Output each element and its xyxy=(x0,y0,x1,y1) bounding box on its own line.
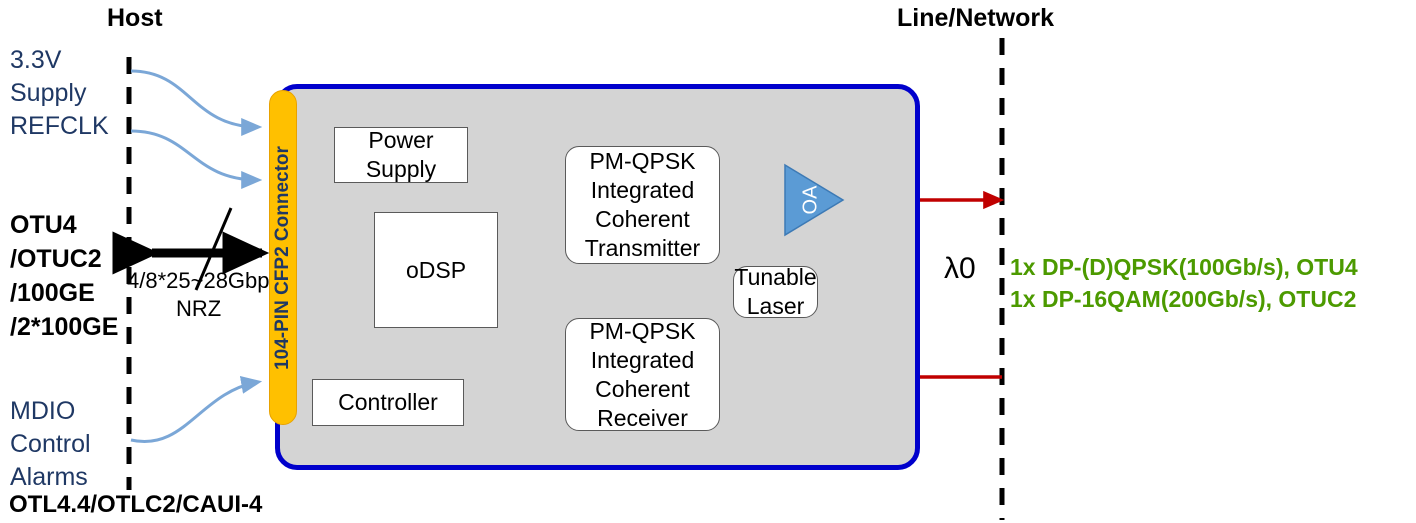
mdio-label-line1: MDIO xyxy=(10,395,91,428)
oa-label: OA xyxy=(800,186,823,215)
supply-label-group: 3.3V Supply xyxy=(10,44,86,110)
connector-label: 104-PIN CFP2 Connector xyxy=(272,146,294,370)
host-header: Host xyxy=(107,4,163,33)
standards-label: OTL4.4/OTLC2/CAUI-4 xyxy=(9,491,262,519)
coherent-transmitter-block: PM-QPSK Integrated Coherent Transmitter xyxy=(565,146,720,264)
client-rate-line1: OTU4 xyxy=(10,208,118,242)
odsp-block: oDSP xyxy=(374,212,498,328)
client-rate-line2: /OTUC2 xyxy=(10,242,118,276)
client-rate-line3: /100GE xyxy=(10,276,118,310)
tunable-laser-line2: Laser xyxy=(734,292,816,321)
mdio-label-line2: Control xyxy=(10,428,91,461)
wavelength-label: λ0 xyxy=(944,252,976,286)
controller-block: Controller xyxy=(312,379,464,426)
supply-label-line1: 3.3V xyxy=(10,44,86,77)
receiver-line3: Coherent xyxy=(589,375,695,404)
diagram-canvas: Host Line/Network 3.3V Supply REFCLK OTU… xyxy=(0,0,1416,523)
power-supply-block: Power Supply xyxy=(334,127,468,183)
modulation-line1: 1x DP-(D)QPSK(100Gb/s), OTU4 xyxy=(1010,251,1358,283)
coherent-receiver-block: PM-QPSK Integrated Coherent Receiver xyxy=(565,318,720,431)
transmitter-line4: Transmitter xyxy=(585,234,700,263)
power-supply-line2: Supply xyxy=(366,155,436,184)
receiver-line2: Integrated xyxy=(589,346,695,375)
mdio-label-line3: Alarms xyxy=(10,461,91,494)
mdio-curve-arrow xyxy=(131,382,258,442)
line-modulation-group: 1x DP-(D)QPSK(100Gb/s), OTU4 1x DP-16QAM… xyxy=(1010,251,1358,315)
client-rate-line4: /2*100GE xyxy=(10,310,118,344)
cfp2-connector: 104-PIN CFP2 Connector xyxy=(269,90,297,425)
controller-label: Controller xyxy=(334,388,442,417)
transmitter-line1: PM-QPSK xyxy=(585,147,700,176)
refclk-label: REFCLK xyxy=(10,110,109,143)
coding-label: NRZ xyxy=(176,295,221,323)
receiver-line4: Receiver xyxy=(589,404,695,433)
odsp-label: oDSP xyxy=(402,256,470,285)
tunable-laser-block: Tunable Laser xyxy=(733,266,818,318)
mdio-label-group: MDIO Control Alarms xyxy=(10,395,91,494)
optical-amplifier-block: OA xyxy=(783,163,845,237)
tunable-laser-line1: Tunable xyxy=(734,263,816,292)
supply-curve-arrow xyxy=(131,71,258,127)
client-rate-label-group: OTU4 /OTUC2 /100GE /2*100GE xyxy=(10,208,118,344)
lane-rate-label: 4/8*25~28Gbps xyxy=(127,267,281,295)
transmitter-line2: Integrated xyxy=(585,176,700,205)
receiver-line1: PM-QPSK xyxy=(589,317,695,346)
transmitter-line3: Coherent xyxy=(585,205,700,234)
supply-label-line2: Supply xyxy=(10,77,86,110)
modulation-line2: 1x DP-16QAM(200Gb/s), OTUC2 xyxy=(1010,283,1358,315)
line-network-header: Line/Network xyxy=(897,4,1054,33)
refclk-curve-arrow xyxy=(131,131,258,180)
power-supply-line1: Power xyxy=(366,126,436,155)
